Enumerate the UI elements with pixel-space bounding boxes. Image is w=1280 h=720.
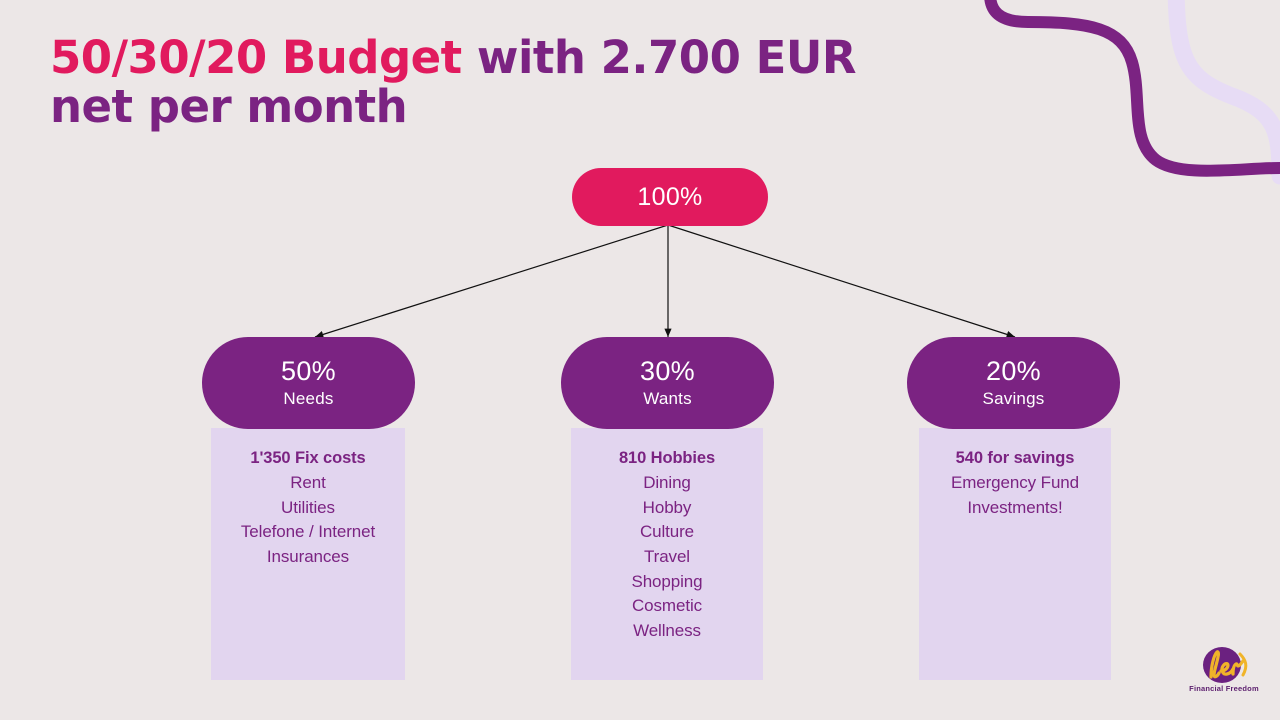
logo-mark bbox=[1178, 644, 1270, 686]
panel-item: Utilities bbox=[211, 496, 405, 521]
brand-logo: Financial Freedom bbox=[1178, 644, 1270, 704]
page-title: 50/30/20 Budget with 2.700 EUR net per m… bbox=[50, 34, 1010, 131]
branch-percent-needs: 50% bbox=[281, 357, 336, 385]
title-rest: with 2.700 EUR bbox=[462, 31, 856, 84]
panel-item: Insurances bbox=[211, 545, 405, 570]
panel-item: Rent bbox=[211, 471, 405, 496]
branch-pill-savings[interactable]: 20% Savings bbox=[907, 337, 1120, 429]
branch-panel-savings: 540 for savings Emergency Fund Investmen… bbox=[919, 428, 1111, 680]
branch-panel-wants: 810 Hobbies Dining Hobby Culture Travel … bbox=[571, 428, 763, 680]
root-node-100-percent[interactable]: 100% bbox=[572, 168, 768, 226]
panel-heading-savings: 540 for savings bbox=[919, 446, 1111, 471]
branch-category-wants: Wants bbox=[643, 389, 692, 409]
panel-item: Travel bbox=[571, 545, 763, 570]
branch-panel-needs: 1'350 Fix costs Rent Utilities Telefone … bbox=[211, 428, 405, 680]
her-logo-icon bbox=[1178, 644, 1270, 686]
panel-item: Wellness bbox=[571, 619, 763, 644]
panel-heading-needs: 1'350 Fix costs bbox=[211, 446, 405, 471]
slide-canvas: 50/30/20 Budget with 2.700 EUR net per m… bbox=[0, 0, 1280, 720]
arrow-to-needs bbox=[315, 225, 668, 337]
panel-item: Shopping bbox=[571, 570, 763, 595]
panel-item: Emergency Fund bbox=[919, 471, 1111, 496]
panel-item: Telefone / Internet bbox=[211, 520, 405, 545]
branch-percent-wants: 30% bbox=[640, 357, 695, 385]
panel-heading-wants: 810 Hobbies bbox=[571, 446, 763, 471]
root-node-label: 100% bbox=[637, 183, 702, 212]
arrow-to-savings bbox=[668, 225, 1015, 337]
panel-item: Investments! bbox=[919, 496, 1111, 521]
dark-curve-path bbox=[990, 0, 1280, 171]
branch-category-needs: Needs bbox=[283, 389, 333, 409]
title-highlight: 50/30/20 Budget bbox=[50, 31, 462, 84]
branch-category-savings: Savings bbox=[983, 389, 1045, 409]
branch-pill-wants[interactable]: 30% Wants bbox=[561, 337, 774, 429]
title-line2: net per month bbox=[50, 80, 407, 133]
light-curve-path bbox=[1176, 0, 1280, 176]
panel-item: Culture bbox=[571, 520, 763, 545]
panel-item: Dining bbox=[571, 471, 763, 496]
panel-item: Cosmetic bbox=[571, 594, 763, 619]
decorative-curves bbox=[980, 0, 1280, 260]
branch-percent-savings: 20% bbox=[986, 357, 1041, 385]
branch-pill-needs[interactable]: 50% Needs bbox=[202, 337, 415, 429]
panel-item: Hobby bbox=[571, 496, 763, 521]
